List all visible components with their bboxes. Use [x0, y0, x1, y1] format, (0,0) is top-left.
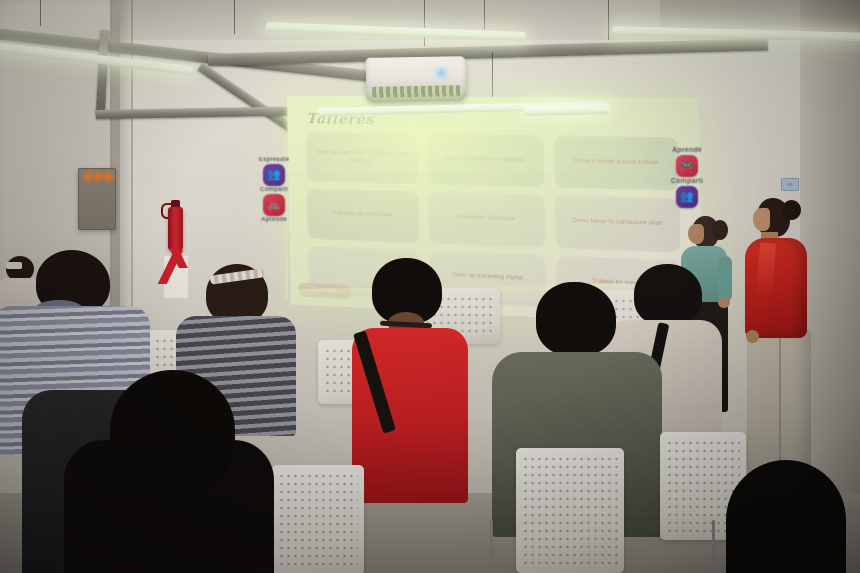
chair — [516, 448, 624, 573]
chair-perforations — [522, 455, 618, 565]
presenter-blazer — [745, 238, 807, 338]
ac-vent-louvers — [372, 85, 460, 98]
poster-label-aprende: Aprendé — [659, 147, 715, 154]
hanging-wire — [424, 0, 425, 46]
hanging-wire — [608, 0, 609, 40]
hanging-wire — [40, 0, 41, 26]
presenter-hair-bun — [782, 200, 801, 220]
skirt-pleat — [779, 335, 781, 480]
attendee-head — [726, 460, 846, 573]
photo-scene: Talleres Taller para aprender a gestiona… — [0, 0, 860, 573]
slide-card: Taller de inteligencia artificial — [426, 134, 545, 188]
chair-perforations — [278, 472, 358, 567]
poster-label-comparti: Compartí — [659, 178, 715, 185]
users-group-icon: 👥 — [676, 186, 698, 208]
presenter-hand — [746, 330, 759, 343]
chair — [272, 465, 364, 573]
presenter-hair-bun — [712, 220, 728, 240]
indicator-led-icon — [86, 174, 91, 179]
hair-clip — [6, 262, 22, 269]
hanging-wire — [484, 0, 485, 30]
attendee-head — [634, 264, 702, 326]
electrical-panel — [78, 168, 116, 230]
presenter-arm — [718, 256, 732, 302]
panel-indicator-lights — [83, 173, 113, 180]
indicator-led-icon — [96, 174, 101, 179]
slide-card: Educación financiera — [427, 192, 546, 247]
poster-label-comparti: Compartí — [248, 187, 300, 193]
chair-leg — [712, 520, 715, 573]
attendee-head — [110, 370, 235, 490]
indicator-led-icon — [106, 174, 111, 179]
presenter-face — [688, 224, 704, 244]
attendee-head — [536, 282, 616, 356]
wall-poster-left: Expresate 👥 Compartí 🚲 Aprendé — [248, 156, 300, 224]
users-group-icon: 👥 — [263, 164, 285, 186]
poster-label-expresate: Expresate — [248, 157, 300, 163]
wall-poster-right: Aprendé 🎮 Compartí 👥 — [659, 146, 715, 209]
poster-label-aprende: Aprendé — [248, 217, 300, 223]
fire-extinguisher-icon — [168, 207, 183, 251]
slide-card: Taller para aprender a gestionar tus tie… — [306, 132, 418, 184]
presenter-hand — [718, 297, 730, 308]
presenter-face — [753, 208, 770, 231]
slide-card: Prácticas de entrevista — [307, 189, 419, 243]
game-controller-icon: 🎮 — [676, 155, 698, 177]
wall-sign: P2 — [781, 178, 799, 191]
ac-power-led-icon — [439, 71, 444, 76]
air-conditioner — [366, 56, 467, 103]
bicycle-icon: 🚲 — [263, 194, 285, 216]
chair-leg — [490, 520, 493, 572]
hanging-wire — [234, 0, 235, 34]
fluorescent-tube-light — [524, 104, 610, 116]
